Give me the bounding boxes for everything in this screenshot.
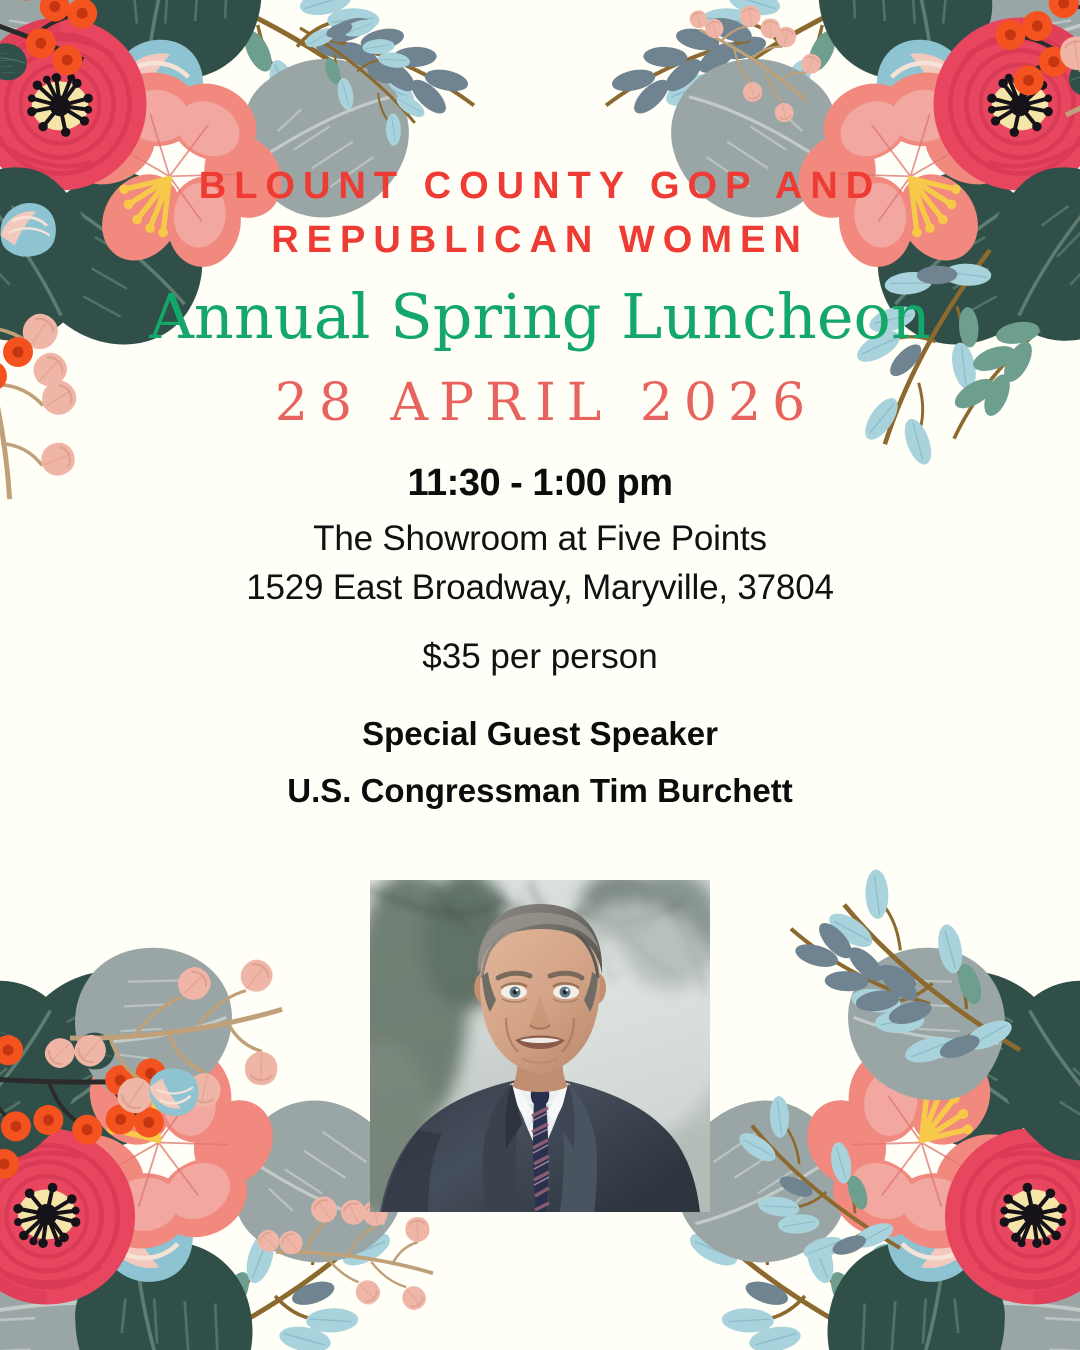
event-price: $35 per person [0, 637, 1080, 677]
organization-title: BLOUNT COUNTY GOP AND REPUBLICAN WOMEN [0, 160, 1080, 268]
speaker-label: Special Guest Speaker [0, 715, 1080, 753]
event-address: 1529 East Broadway, Maryville, 37804 [0, 568, 1080, 608]
event-time: 11:30 - 1:00 pm [0, 462, 1080, 505]
flyer-content: BLOUNT COUNTY GOP AND REPUBLICAN WOMEN A… [0, 0, 1080, 1350]
speaker-portrait-photo [370, 880, 710, 1212]
event-title: Annual Spring Luncheon [0, 286, 1080, 348]
flyer-canvas: BLOUNT COUNTY GOP AND REPUBLICAN WOMEN A… [0, 0, 1080, 1350]
speaker-name: U.S. Congressman Tim Burchett [0, 772, 1080, 810]
event-date: 28 APRIL 2026 [0, 375, 1080, 432]
organization-title-line-1: BLOUNT COUNTY GOP AND [0, 160, 1080, 214]
organization-title-line-2: REPUBLICAN WOMEN [0, 214, 1080, 268]
event-venue: The Showroom at Five Points [0, 519, 1080, 559]
